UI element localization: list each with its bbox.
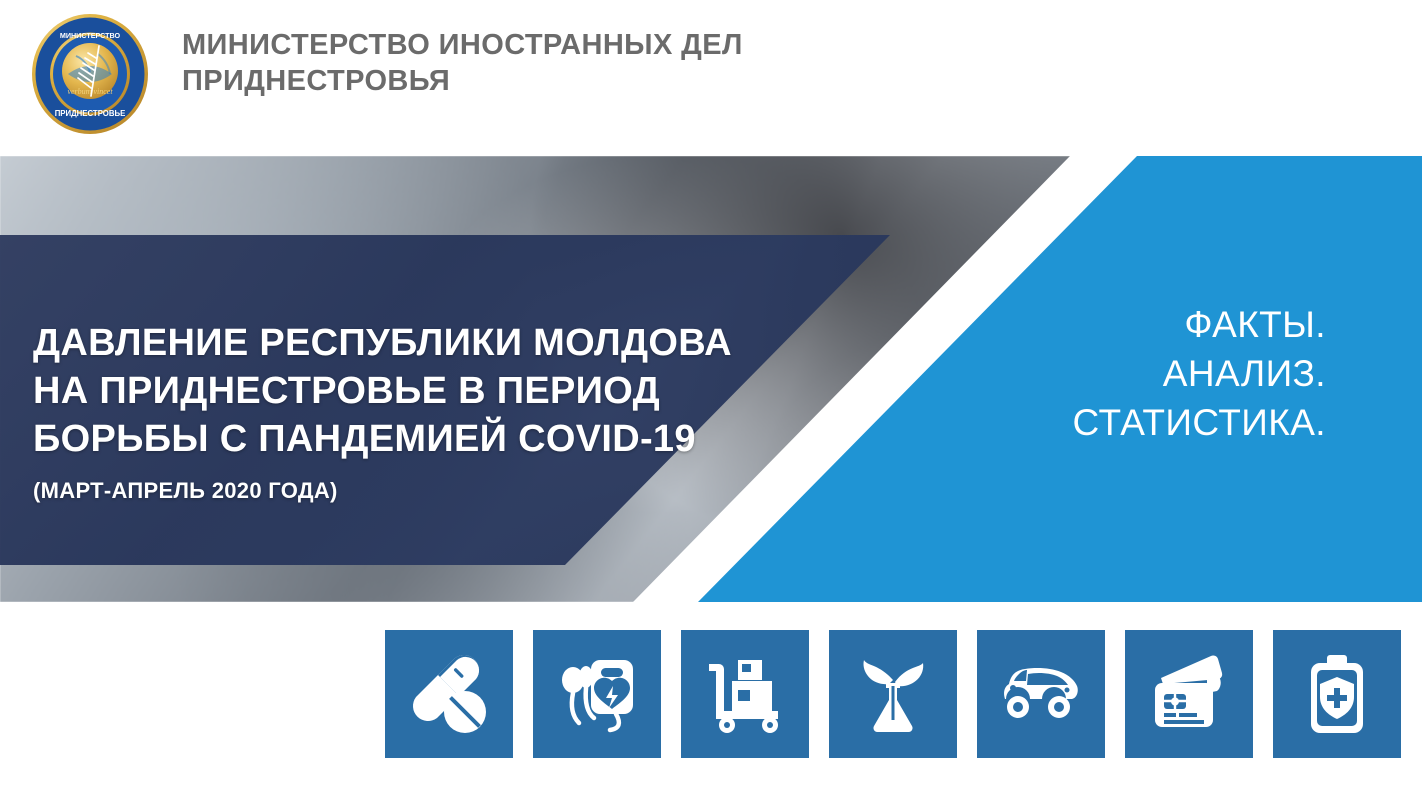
- wallet-card-icon: [1145, 650, 1233, 738]
- page-title: ДАВЛЕНИЕ РЕСПУБЛИКИ МОЛДОВА НА ПРИДНЕСТР…: [33, 320, 753, 464]
- medical-case-icon: [1293, 650, 1381, 738]
- tagline-line-3: СТАТИСТИКА.: [1073, 398, 1326, 447]
- page-title-line-3: БОРЬБЫ С ПАНДЕМИЕЙ COVID-19: [33, 416, 753, 464]
- icon-tile-defibrillator[interactable]: [533, 630, 661, 758]
- page-title-line-2: НА ПРИДНЕСТРОВЬЕ В ПЕРИОД: [33, 368, 753, 416]
- icon-tile-car[interactable]: [977, 630, 1105, 758]
- ministry-name: МИНИСТЕРСТВО ИНОСТРАННЫХ ДЕЛ ПРИДНЕСТРОВ…: [182, 28, 882, 100]
- svg-text:МИНИСТЕРСТВО: МИНИСТЕРСТВО: [60, 31, 121, 40]
- presentation-slide: МИНИСТЕРСТВО ПРИДНЕСТРОВЬЕ verbum vincet…: [0, 0, 1422, 800]
- icon-tile-wallet-card[interactable]: [1125, 630, 1253, 758]
- icon-tile-medical-case[interactable]: [1273, 630, 1401, 758]
- mfa-pridnestrovie-emblem-icon: МИНИСТЕРСТВО ПРИДНЕСТРОВЬЕ verbum vincet: [28, 12, 152, 136]
- icon-tile-flask-plant[interactable]: [829, 630, 957, 758]
- svg-text:ПРИДНЕСТРОВЬЕ: ПРИДНЕСТРОВЬЕ: [55, 109, 126, 118]
- title-block: ДАВЛЕНИЕ РЕСПУБЛИКИ МОЛДОВА НА ПРИДНЕСТР…: [33, 320, 753, 504]
- icon-tile-cargo-cart[interactable]: [681, 630, 809, 758]
- defibrillator-icon: [553, 650, 641, 738]
- pills-icon: [405, 650, 493, 738]
- topic-icon-strip: [385, 630, 1401, 758]
- svg-text:verbum vincet: verbum vincet: [67, 87, 113, 96]
- ministry-name-line-2: ПРИДНЕСТРОВЬЯ: [182, 64, 882, 100]
- cargo-cart-icon: [701, 650, 789, 738]
- page-subtitle: (МАРТ-АПРЕЛЬ 2020 ГОДА): [33, 478, 753, 504]
- flask-plant-icon: [849, 650, 937, 738]
- tagline-line-1: ФАКТЫ.: [1073, 300, 1326, 349]
- ministry-emblem: МИНИСТЕРСТВО ПРИДНЕСТРОВЬЕ verbum vincet: [28, 12, 152, 136]
- icon-tile-pills[interactable]: [385, 630, 513, 758]
- ministry-name-line-1: МИНИСТЕРСТВО ИНОСТРАННЫХ ДЕЛ: [182, 28, 882, 64]
- slide-header: МИНИСТЕРСТВО ПРИДНЕСТРОВЬЕ verbum vincet…: [0, 0, 1422, 150]
- tagline-text: ФАКТЫ. АНАЛИЗ. СТАТИСТИКА.: [1073, 300, 1326, 448]
- page-title-line-1: ДАВЛЕНИЕ РЕСПУБЛИКИ МОЛДОВА: [33, 320, 753, 368]
- tagline-line-2: АНАЛИЗ.: [1073, 349, 1326, 398]
- car-icon: [997, 650, 1085, 738]
